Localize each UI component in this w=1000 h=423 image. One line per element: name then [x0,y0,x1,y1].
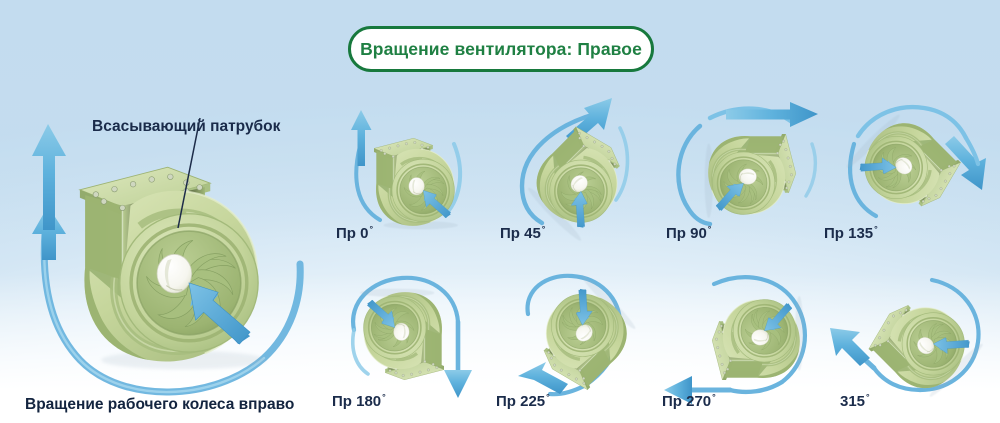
fan-variant-225 [498,268,654,400]
fan-variant-45 [500,92,650,224]
fan-variant-0 [336,104,476,224]
main-fan-diagram [18,110,318,400]
angle-label-45: Пр 45° [500,224,545,242]
fan-variant-270 [662,266,832,400]
fan-variant-315 [826,266,998,400]
angle-label-180: Пр 180° [332,392,386,410]
callout-label-inlet: Всасывающий патрубок [92,118,280,136]
page-title-pill: Вращение вентилятора: Правое [348,26,654,72]
angle-label-135: Пр 135° [824,224,878,242]
fan-variant-180 [332,272,482,398]
caption-wheel-rotation: Вращение рабочего колеса вправо [25,396,294,414]
angle-label-225: Пр 225° [496,392,550,410]
fan-variant-135 [832,92,994,224]
fan-variant-90 [666,92,826,224]
angle-label-90: Пр 90° [666,224,711,242]
diagram-canvas: Вращение вентилятора: Правое Всасывающий… [0,0,1000,423]
angle-label-270: Пр 270° [662,392,716,410]
page-title: Вращение вентилятора: Правое [360,39,642,60]
angle-label-0: Пр 0° [336,224,373,242]
angle-label-315: 315° [840,392,870,410]
